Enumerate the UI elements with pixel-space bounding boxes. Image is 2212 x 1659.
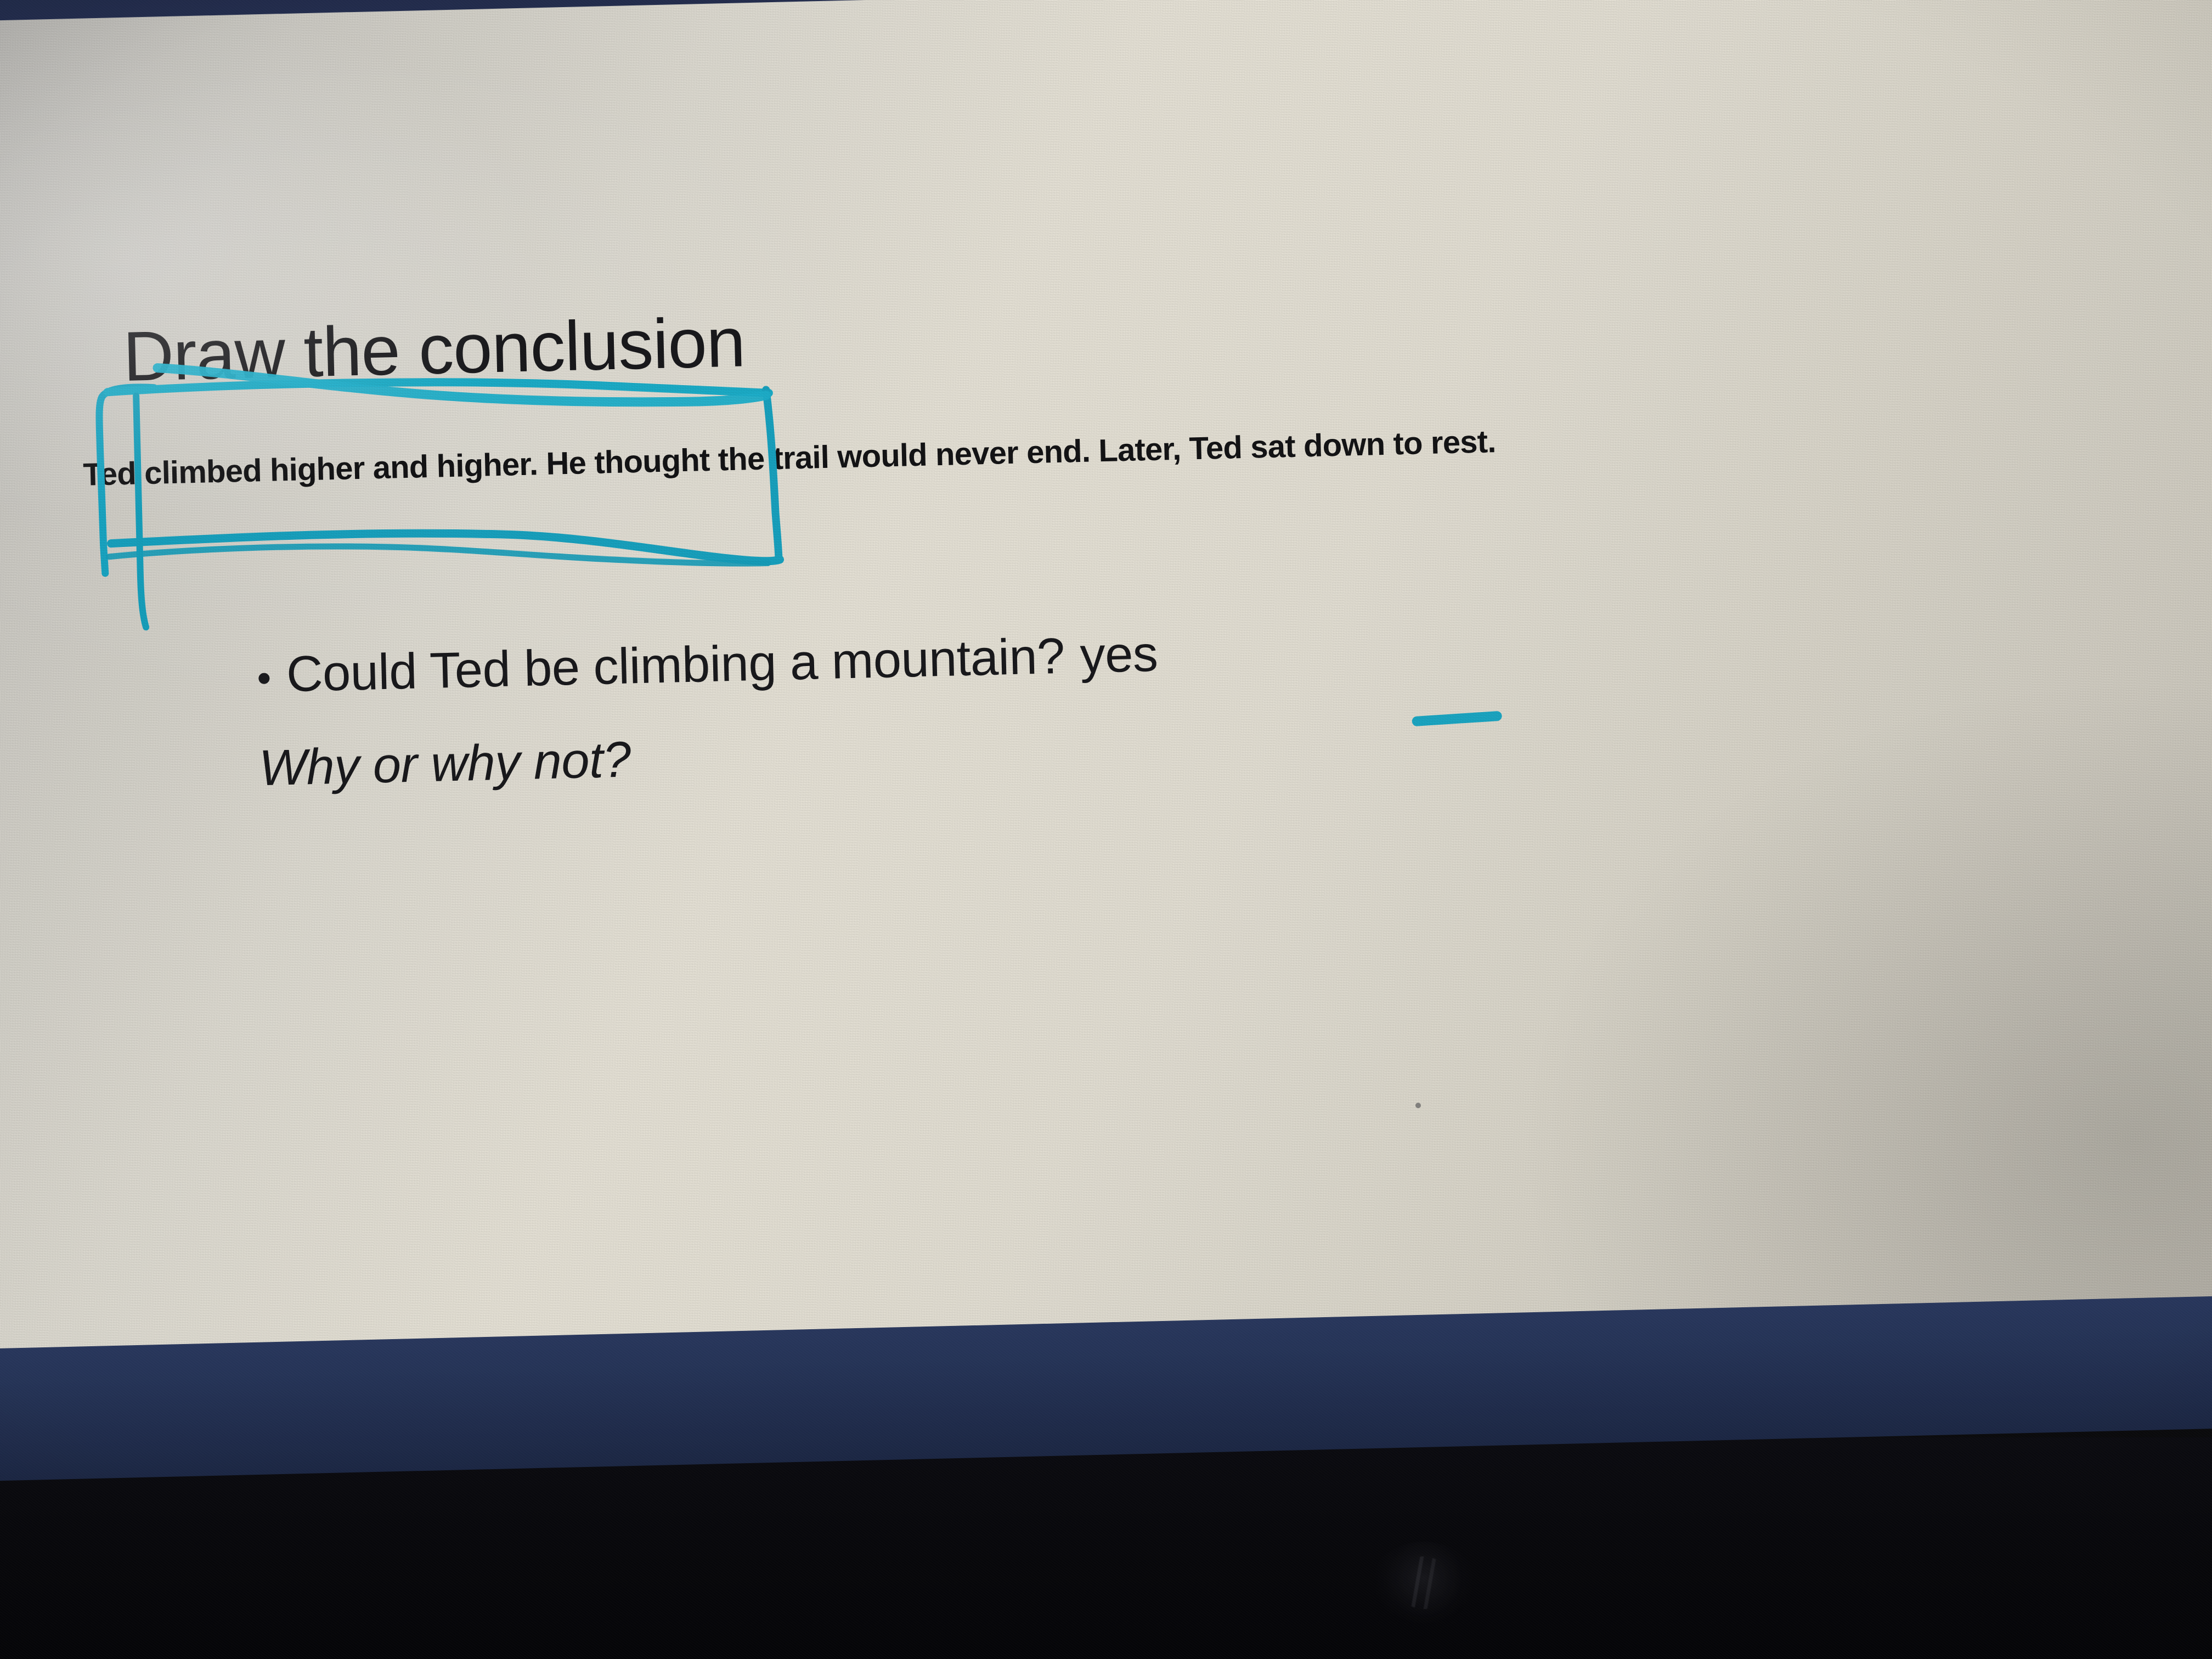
hp-logo-strokes: [1397, 1556, 1451, 1609]
presentation-slide-area: Draw the conclusion Ted climbed higher a…: [0, 0, 2212, 1349]
slide-title: Draw the conclusion: [122, 302, 746, 397]
bullet-answer-text: yes: [1079, 625, 1158, 685]
bullet-marker-icon: •: [257, 660, 272, 697]
hp-logo: [1372, 1542, 1476, 1624]
followup-question-text: Why or why not?: [258, 731, 631, 797]
laptop-screen-photo: Draw the conclusion Ted climbed higher a…: [0, 0, 2212, 1659]
